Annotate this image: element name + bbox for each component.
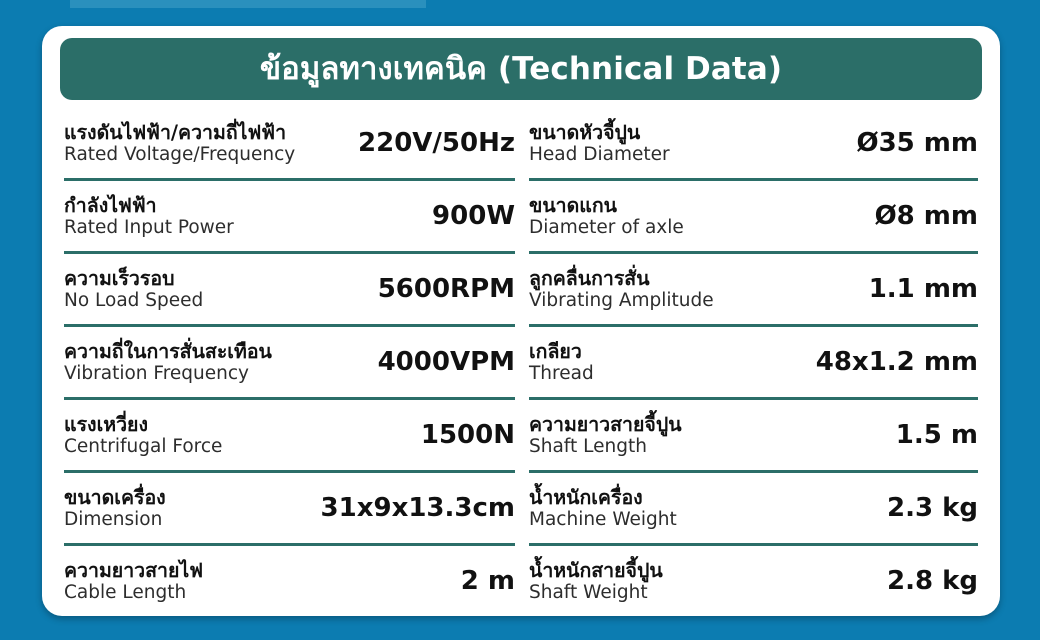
page-title: ข้อมูลทางเทคนิค (Technical Data) (260, 54, 782, 85)
spec-label-th: ลูกคลื่นการสั่น (529, 267, 714, 290)
spec-label-group: แรงเหวี่ยง Centrifugal Force (64, 413, 222, 458)
spec-value: 900W (432, 201, 515, 231)
spec-label-th: ความยาวสายจี้ปูน (529, 413, 682, 436)
spec-row: กำลังไฟฟ้า Rated Input Power 900W (64, 181, 515, 254)
spec-row: ความถี่ในการสั่นสะเทือน Vibration Freque… (64, 327, 515, 400)
spec-value: Ø8 mm (875, 201, 978, 231)
spec-label-en: Head Diameter (529, 144, 670, 166)
spec-value: 220V/50Hz (358, 128, 515, 158)
spec-label-en: Cable Length (64, 582, 203, 604)
spec-label-group: ขนาดเครื่อง Dimension (64, 486, 166, 531)
spec-label-group: น้ำหนักสายจี้ปูน Shaft Weight (529, 559, 663, 604)
spec-label-en: Machine Weight (529, 509, 677, 531)
spec-label-en: Shaft Weight (529, 582, 663, 604)
spec-label-th: แรงดันไฟฟ้า/ความถี่ไฟฟ้า (64, 121, 295, 144)
spec-label-group: ขนาดแกน Diameter of axle (529, 194, 684, 239)
spec-label-group: ลูกคลื่นการสั่น Vibrating Amplitude (529, 267, 714, 312)
spec-label-th: ขนาดเครื่อง (64, 486, 166, 509)
spec-value: 31x9x13.3cm (321, 493, 515, 523)
spec-label-en: Vibrating Amplitude (529, 290, 714, 312)
spec-row: ความยาวสายจี้ปูน Shaft Length 1.5 m (529, 400, 978, 473)
spec-row: ความเร็วรอบ No Load Speed 5600RPM (64, 254, 515, 327)
spec-value: Ø35 mm (856, 128, 978, 158)
spec-row: น้ำหนักสายจี้ปูน Shaft Weight 2.8 kg (529, 546, 978, 616)
spec-column-left: แรงดันไฟฟ้า/ความถี่ไฟฟ้า Rated Voltage/F… (42, 108, 521, 616)
spec-row: แรงดันไฟฟ้า/ความถี่ไฟฟ้า Rated Voltage/F… (64, 108, 515, 181)
spec-value: 2.8 kg (887, 566, 978, 596)
spec-label-group: ความเร็วรอบ No Load Speed (64, 267, 203, 312)
spec-value: 2 m (461, 566, 515, 596)
spec-label-th: น้ำหนักเครื่อง (529, 486, 677, 509)
spec-row: ลูกคลื่นการสั่น Vibrating Amplitude 1.1 … (529, 254, 978, 327)
spec-label-group: ความยาวสายจี้ปูน Shaft Length (529, 413, 682, 458)
spec-label-group: ความถี่ในการสั่นสะเทือน Vibration Freque… (64, 340, 272, 385)
spec-row: น้ำหนักเครื่อง Machine Weight 2.3 kg (529, 473, 978, 546)
spec-label-group: กำลังไฟฟ้า Rated Input Power (64, 194, 234, 239)
spec-label-en: Rated Input Power (64, 217, 234, 239)
spec-row: ขนาดหัวจี้ปูน Head Diameter Ø35 mm (529, 108, 978, 181)
spec-label-en: Thread (529, 363, 594, 385)
spec-label-en: Dimension (64, 509, 166, 531)
spec-label-en: Vibration Frequency (64, 363, 272, 385)
spec-label-en: Rated Voltage/Frequency (64, 144, 295, 166)
spec-label-th: ขนาดแกน (529, 194, 684, 217)
spec-label-group: ความยาวสายไฟ Cable Length (64, 559, 203, 604)
spec-grid: แรงดันไฟฟ้า/ความถี่ไฟฟ้า Rated Voltage/F… (42, 108, 1000, 616)
spec-label-th: ความเร็วรอบ (64, 267, 203, 290)
spec-label-group: ขนาดหัวจี้ปูน Head Diameter (529, 121, 670, 166)
spec-label-en: No Load Speed (64, 290, 203, 312)
spec-value: 1.5 m (896, 420, 978, 450)
spec-row: ความยาวสายไฟ Cable Length 2 m (64, 546, 515, 616)
spec-label-th: ความถี่ในการสั่นสะเทือน (64, 340, 272, 363)
spec-label-group: น้ำหนักเครื่อง Machine Weight (529, 486, 677, 531)
spec-value: 5600RPM (378, 274, 515, 304)
spec-label-th: ขนาดหัวจี้ปูน (529, 121, 670, 144)
spec-value: 4000VPM (378, 347, 515, 377)
spec-row: ขนาดแกน Diameter of axle Ø8 mm (529, 181, 978, 254)
spec-label-group: แรงดันไฟฟ้า/ความถี่ไฟฟ้า Rated Voltage/F… (64, 121, 295, 166)
spec-label-en: Centrifugal Force (64, 436, 222, 458)
spec-label-th: กำลังไฟฟ้า (64, 194, 234, 217)
spec-label-en: Shaft Length (529, 436, 682, 458)
spec-value: 1500N (421, 420, 515, 450)
technical-data-card: ข้อมูลทางเทคนิค (Technical Data) แรงดันไ… (42, 26, 1000, 616)
spec-value: 2.3 kg (887, 493, 978, 523)
spec-label-th: น้ำหนักสายจี้ปูน (529, 559, 663, 582)
spec-value: 1.1 mm (869, 274, 978, 304)
card-header-bar: ข้อมูลทางเทคนิค (Technical Data) (60, 38, 982, 100)
spec-value: 48x1.2 mm (816, 347, 978, 377)
spec-label-th: เกลียว (529, 340, 594, 363)
spec-row: แรงเหวี่ยง Centrifugal Force 1500N (64, 400, 515, 473)
spec-label-en: Diameter of axle (529, 217, 684, 239)
spec-column-right: ขนาดหัวจี้ปูน Head Diameter Ø35 mm ขนาดแ… (521, 108, 1000, 616)
spec-row: เกลียว Thread 48x1.2 mm (529, 327, 978, 400)
spec-label-group: เกลียว Thread (529, 340, 594, 385)
top-accent-band (70, 0, 426, 8)
spec-row: ขนาดเครื่อง Dimension 31x9x13.3cm (64, 473, 515, 546)
spec-label-th: แรงเหวี่ยง (64, 413, 222, 436)
spec-label-th: ความยาวสายไฟ (64, 559, 203, 582)
